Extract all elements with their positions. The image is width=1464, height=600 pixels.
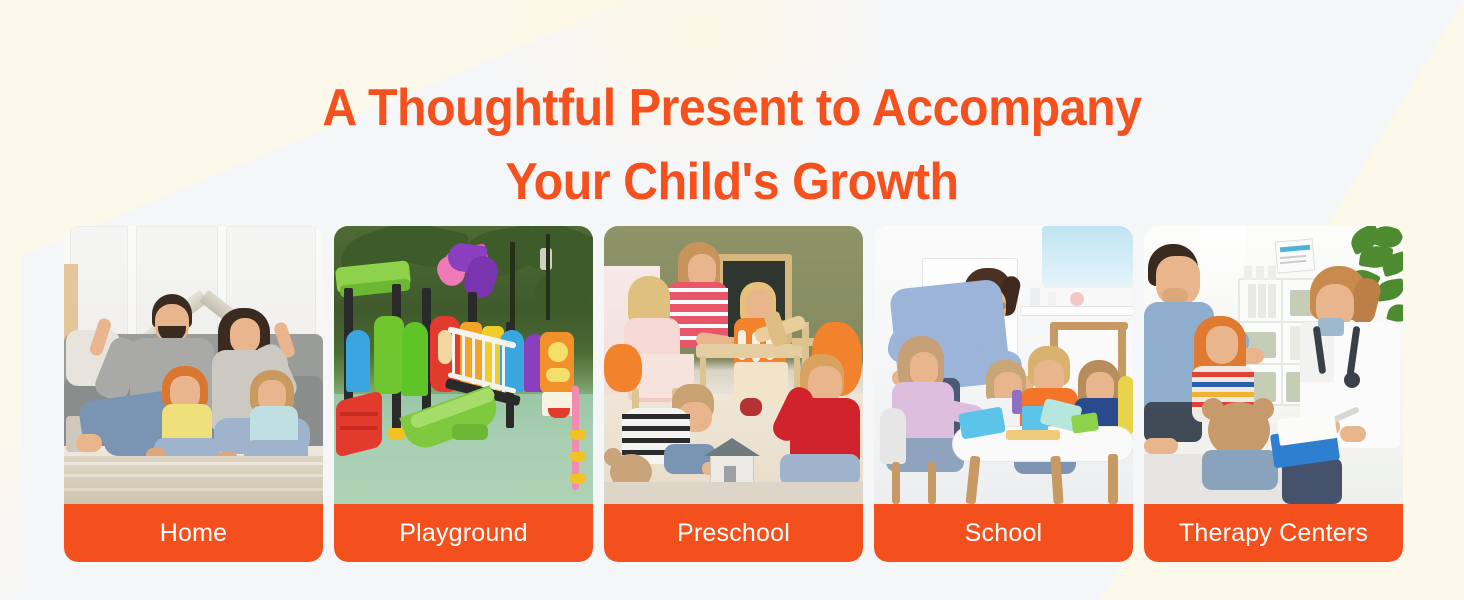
background-cream-sliver-left <box>0 0 22 600</box>
category-label-school[interactable]: School <box>874 504 1133 562</box>
home-photo-icon <box>64 226 323 504</box>
category-card-school[interactable]: School <box>874 226 1133 562</box>
school-photo-icon <box>874 226 1133 504</box>
category-label-playground[interactable]: Playground <box>334 504 593 562</box>
category-label-text: Playground <box>399 519 527 548</box>
category-card-list: Home <box>64 226 1403 562</box>
category-label-therapy-centers[interactable]: Therapy Centers <box>1144 504 1403 562</box>
category-label-text: Preschool <box>677 519 790 548</box>
therapy-photo-icon <box>1144 226 1403 504</box>
category-label-text: School <box>965 519 1043 548</box>
playground-photo-icon <box>334 226 593 504</box>
page-title: A Thoughtful Present to Accompany Your C… <box>51 72 1413 220</box>
category-label-home[interactable]: Home <box>64 504 323 562</box>
category-label-preschool[interactable]: Preschool <box>604 504 863 562</box>
category-label-text: Home <box>160 519 228 548</box>
category-card-therapy-centers[interactable]: Therapy Centers <box>1144 226 1403 562</box>
category-card-home[interactable]: Home <box>64 226 323 562</box>
category-card-playground[interactable]: Playground <box>334 226 593 562</box>
category-card-preschool[interactable]: Preschool <box>604 226 863 562</box>
category-label-text: Therapy Centers <box>1179 519 1368 548</box>
promo-banner: A Thoughtful Present to Accompany Your C… <box>0 0 1464 600</box>
preschool-photo-icon <box>604 226 863 504</box>
